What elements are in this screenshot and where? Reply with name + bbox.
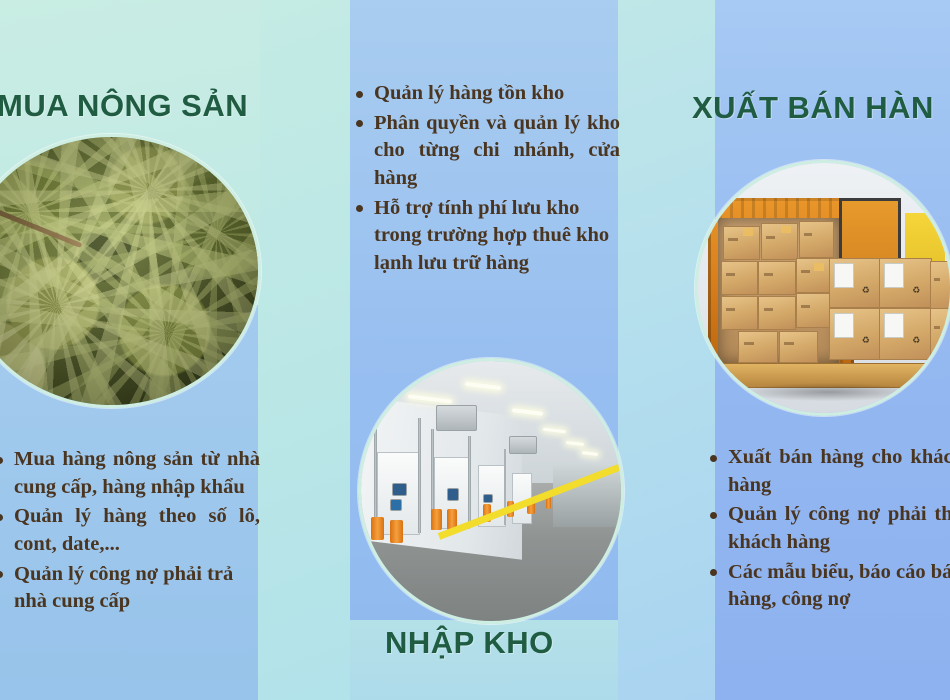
cardboard-box bbox=[796, 293, 831, 328]
cardboard-box bbox=[721, 261, 758, 296]
control-panel bbox=[390, 499, 402, 511]
recycle-icon: ♻ bbox=[912, 336, 920, 345]
page-title-middle: NHẬP KHO bbox=[385, 625, 554, 661]
packing-tape bbox=[814, 263, 824, 271]
list-item: Quản lý hàng theo số lô, cont, date,... bbox=[0, 503, 260, 558]
cardboard-box bbox=[930, 308, 950, 360]
door-frame-post bbox=[468, 436, 471, 527]
evaporator-unit bbox=[436, 405, 477, 430]
list-item: Quản lý hàng tồn kho bbox=[352, 80, 620, 108]
packing-tape bbox=[743, 228, 753, 236]
list-item: Phân quyền và quản lý kho cho từng chi n… bbox=[352, 110, 620, 193]
cardboard-box bbox=[761, 223, 798, 260]
control-panel bbox=[392, 483, 407, 495]
cardboard-box bbox=[758, 296, 795, 331]
durian-pile-photo bbox=[0, 134, 261, 408]
infographic-slide: U MUA NÔNG SẢN Mua hàng nông sản từ nhà … bbox=[0, 0, 950, 700]
page-title-left: U MUA NÔNG SẢN bbox=[0, 88, 248, 124]
cardboard-box bbox=[799, 221, 834, 258]
cardboard-box bbox=[738, 331, 778, 363]
pallet-shadow bbox=[738, 383, 919, 401]
bullet-list-left: Mua hàng nông sản từ nhà cung cấp, hàng … bbox=[0, 446, 260, 616]
cardboard-box bbox=[758, 261, 795, 296]
bullet-list-right: Xuất bán hàng cho khách hàng Quản lý côn… bbox=[706, 444, 950, 614]
shipping-label bbox=[834, 313, 854, 338]
cold-storage-photo bbox=[358, 358, 624, 624]
list-item: Các mẫu biểu, báo cáo bán hàng, công nợ bbox=[706, 559, 950, 614]
cardboard-box bbox=[779, 331, 819, 363]
recycle-icon: ♻ bbox=[862, 336, 870, 345]
background-band-mid-cyan bbox=[260, 0, 350, 700]
durian-photo-vignette bbox=[0, 137, 258, 405]
list-item: Xuất bán hàng cho khách hàng bbox=[706, 444, 950, 499]
shipping-label bbox=[884, 313, 904, 338]
list-item: Mua hàng nông sản từ nhà cung cấp, hàng … bbox=[0, 446, 260, 501]
dock-bollard bbox=[390, 520, 403, 543]
list-item: Quản lý công nợ phải thu khách hàng bbox=[706, 501, 950, 556]
dock-bollard bbox=[371, 517, 384, 540]
dock-bollard bbox=[431, 509, 441, 530]
cardboard-box bbox=[930, 261, 950, 311]
cardboard-box bbox=[723, 226, 760, 261]
evaporator-unit bbox=[509, 436, 537, 454]
list-item: Quản lý công nợ phải trả nhà cung cấp bbox=[0, 561, 260, 616]
shipping-label bbox=[884, 263, 904, 288]
bullet-list-middle: Quản lý hàng tồn kho Phân quyền và quản … bbox=[352, 80, 620, 278]
packing-tape bbox=[781, 226, 791, 234]
shipping-label bbox=[834, 263, 854, 288]
cardboard-box bbox=[721, 296, 758, 331]
page-title-right: XUẤT BÁN HÀN bbox=[692, 90, 934, 126]
list-item: Hỗ trợ tính phí lưu kho trong trường hợp… bbox=[352, 195, 620, 278]
control-panel bbox=[483, 494, 493, 504]
warehouse-far-end bbox=[553, 465, 621, 527]
door-frame-post bbox=[418, 418, 421, 532]
control-panel bbox=[447, 488, 459, 500]
recycle-icon: ♻ bbox=[862, 286, 870, 295]
shipping-container-boxes-photo: ♻ ♻ ♻ ♻ bbox=[695, 160, 950, 416]
recycle-icon: ♻ bbox=[912, 286, 920, 295]
